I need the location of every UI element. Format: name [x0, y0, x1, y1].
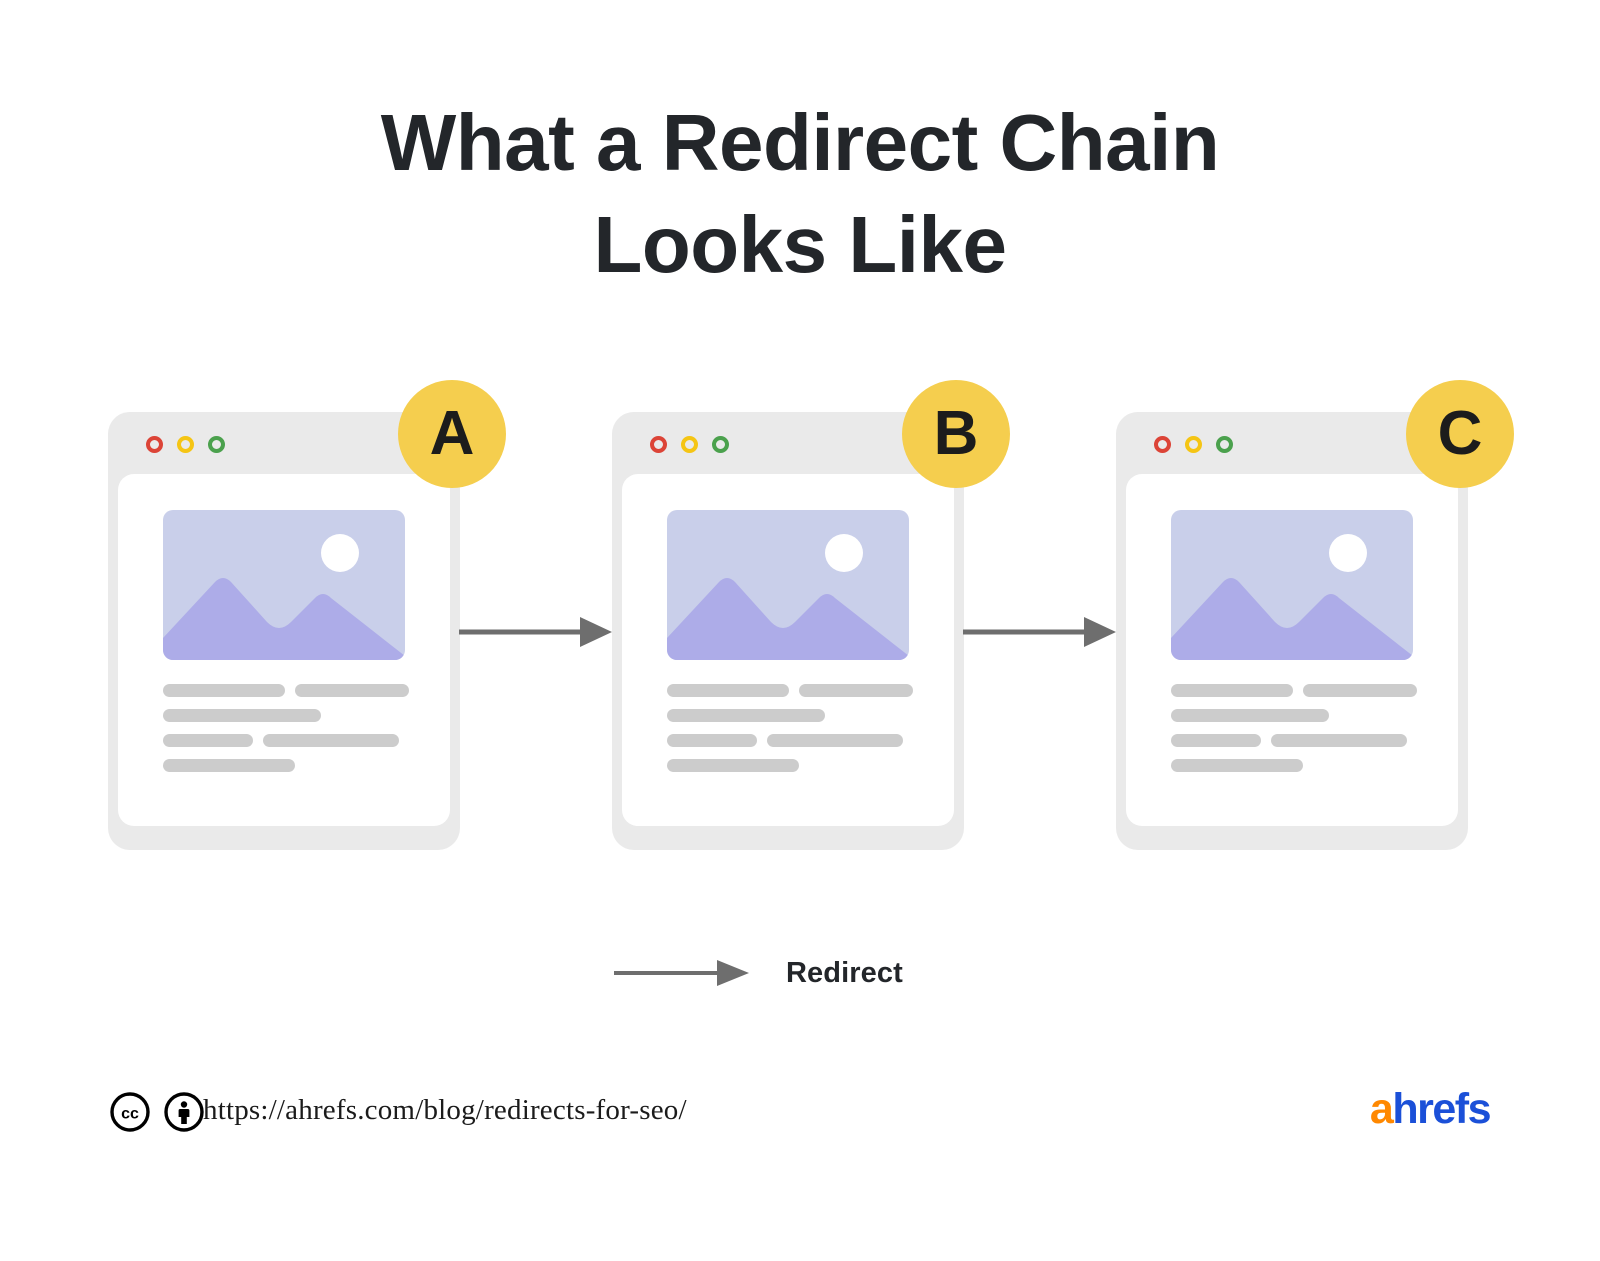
window-controls-b [650, 436, 729, 453]
creative-commons-attribution-icon [164, 1092, 204, 1132]
redirect-arrow-a-to-b [455, 608, 615, 656]
maximize-dot-icon [208, 436, 225, 453]
mountain-icon [163, 560, 405, 660]
maximize-dot-icon [712, 436, 729, 453]
browser-window-c [1116, 412, 1468, 850]
browser-content-b [622, 474, 954, 826]
window-controls-c [1154, 436, 1233, 453]
minimize-dot-icon [177, 436, 194, 453]
legend-label-redirect: Redirect [786, 957, 903, 990]
node-badge-a: A [398, 380, 506, 488]
ahrefs-logo-rest: hrefs [1392, 1085, 1490, 1133]
text-placeholder-lines-c [1171, 684, 1417, 784]
redirect-arrow-b-to-c [959, 608, 1119, 656]
infographic-canvas: What a Redirect Chain Looks Like [0, 0, 1600, 1261]
close-dot-icon [650, 436, 667, 453]
ahrefs-logo[interactable]: ahrefs [1370, 1088, 1490, 1131]
license-icons: cc [110, 1092, 204, 1132]
source-url[interactable]: https://ahrefs.com/blog/redirects-for-se… [203, 1094, 687, 1127]
ahrefs-logo-a: a [1370, 1085, 1392, 1133]
svg-text:cc: cc [121, 1106, 139, 1123]
node-badge-a-label: A [430, 403, 475, 465]
text-placeholder-lines-a [163, 684, 409, 784]
close-dot-icon [1154, 436, 1171, 453]
legend: Redirect [612, 952, 903, 994]
maximize-dot-icon [1216, 436, 1233, 453]
browser-content-a [118, 474, 450, 826]
node-badge-b-label: B [934, 403, 979, 465]
node-badge-c: C [1406, 380, 1514, 488]
minimize-dot-icon [681, 436, 698, 453]
node-badge-b: B [902, 380, 1010, 488]
footer: cc https://ahrefs.com/blog/redirects-for… [0, 1088, 1600, 1148]
browser-content-c [1126, 474, 1458, 826]
minimize-dot-icon [1185, 436, 1202, 453]
image-placeholder-icon [163, 510, 405, 660]
arrow-right-icon [612, 952, 752, 994]
browser-window-a [108, 412, 460, 850]
text-placeholder-lines-b [667, 684, 913, 784]
close-dot-icon [146, 436, 163, 453]
window-controls-a [146, 436, 225, 453]
image-placeholder-icon [667, 510, 909, 660]
image-placeholder-icon [1171, 510, 1413, 660]
creative-commons-icon: cc [110, 1092, 150, 1132]
mountain-icon [667, 560, 909, 660]
mountain-icon [1171, 560, 1413, 660]
redirect-chain-diagram: A B C [0, 0, 1600, 1261]
browser-window-b [612, 412, 964, 850]
node-badge-c-label: C [1438, 403, 1483, 465]
